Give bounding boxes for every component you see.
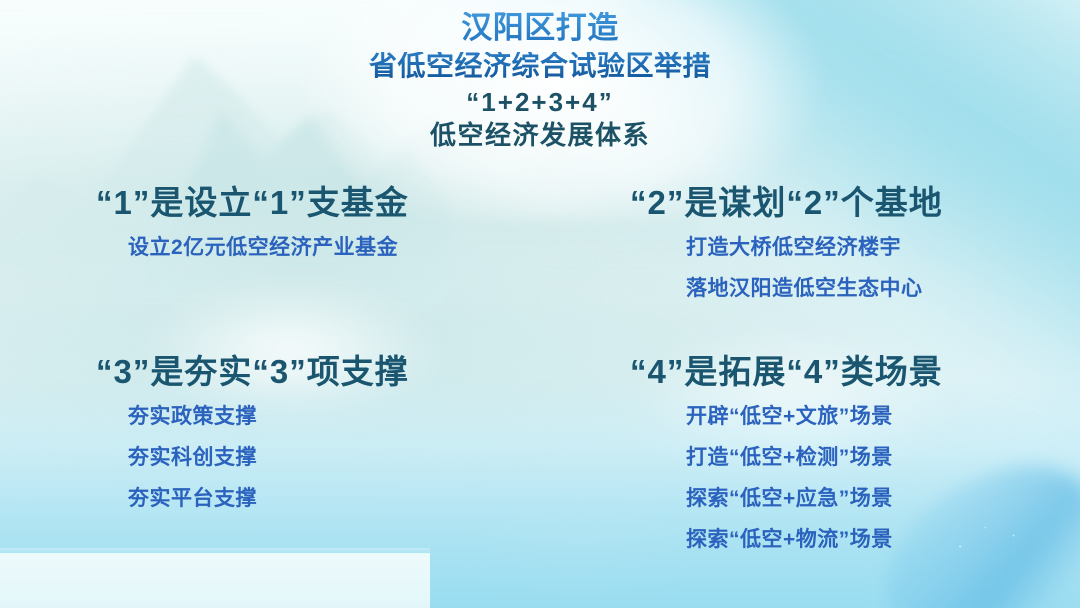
list-item: 设立2亿元低空经济产业基金 — [128, 237, 540, 258]
block-group-4: “4”是拓展“4”类场景 开辟“低空+文旅”场景 打造“低空+检测”场景 探索“… — [540, 345, 1080, 570]
title-line-1: 汉阳区打造 — [0, 12, 1080, 43]
list-item: 打造大桥低空经济楼宇 — [686, 237, 1080, 258]
block-1-items: 设立2亿元低空经济产业基金 — [0, 237, 540, 258]
poster-content: 汉阳区打造 省低空经济综合试验区举措 “1+2+3+4” 低空经济发展体系 “1… — [0, 0, 1080, 608]
block-2-heading: “2”是谋划“2”个基地 — [540, 176, 1080, 224]
list-item: 探索“低空+应急”场景 — [686, 488, 1080, 509]
blocks-grid: “1”是设立“1”支基金 设立2亿元低空经济产业基金 “2”是谋划“2”个基地 … — [0, 176, 1080, 570]
title-line-4: 低空经济发展体系 — [0, 122, 1080, 148]
list-item: 落地汉阳造低空生态中心 — [686, 278, 1080, 299]
title-line-2: 省低空经济综合试验区举措 — [0, 52, 1080, 80]
list-item: 夯实科创支撑 — [128, 447, 540, 468]
list-item: 夯实政策支撑 — [128, 406, 540, 427]
block-3-heading: “3”是夯实“3”项支撑 — [0, 345, 540, 393]
block-group-2: “2”是谋划“2”个基地 打造大桥低空经济楼宇 落地汉阳造低空生态中心 — [540, 176, 1080, 319]
block-4-heading: “4”是拓展“4”类场景 — [540, 345, 1080, 393]
block-4-items: 开辟“低空+文旅”场景 打造“低空+检测”场景 探索“低空+应急”场景 探索“低… — [540, 406, 1080, 550]
poster-title: 汉阳区打造 省低空经济综合试验区举措 “1+2+3+4” 低空经济发展体系 — [0, 12, 1080, 148]
list-item: 开辟“低空+文旅”场景 — [686, 406, 1080, 427]
blocks-row-bottom: “3”是夯实“3”项支撑 夯实政策支撑 夯实科创支撑 夯实平台支撑 “4”是拓展… — [0, 345, 1080, 570]
title-line-3: “1+2+3+4” — [0, 89, 1080, 115]
list-item: 夯实平台支撑 — [128, 488, 540, 509]
blocks-row-top: “1”是设立“1”支基金 设立2亿元低空经济产业基金 “2”是谋划“2”个基地 … — [0, 176, 1080, 319]
list-item: 打造“低空+检测”场景 — [686, 447, 1080, 468]
block-1-heading: “1”是设立“1”支基金 — [0, 176, 540, 224]
block-3-items: 夯实政策支撑 夯实科创支撑 夯实平台支撑 — [0, 406, 540, 509]
block-group-1: “1”是设立“1”支基金 设立2亿元低空经济产业基金 — [0, 176, 540, 319]
block-group-3: “3”是夯实“3”项支撑 夯实政策支撑 夯实科创支撑 夯实平台支撑 — [0, 345, 540, 570]
block-2-items: 打造大桥低空经济楼宇 落地汉阳造低空生态中心 — [540, 237, 1080, 299]
list-item: 探索“低空+物流”场景 — [686, 529, 1080, 550]
poster-canvas: 汉阳区打造 省低空经济综合试验区举措 “1+2+3+4” 低空经济发展体系 “1… — [0, 0, 1080, 608]
